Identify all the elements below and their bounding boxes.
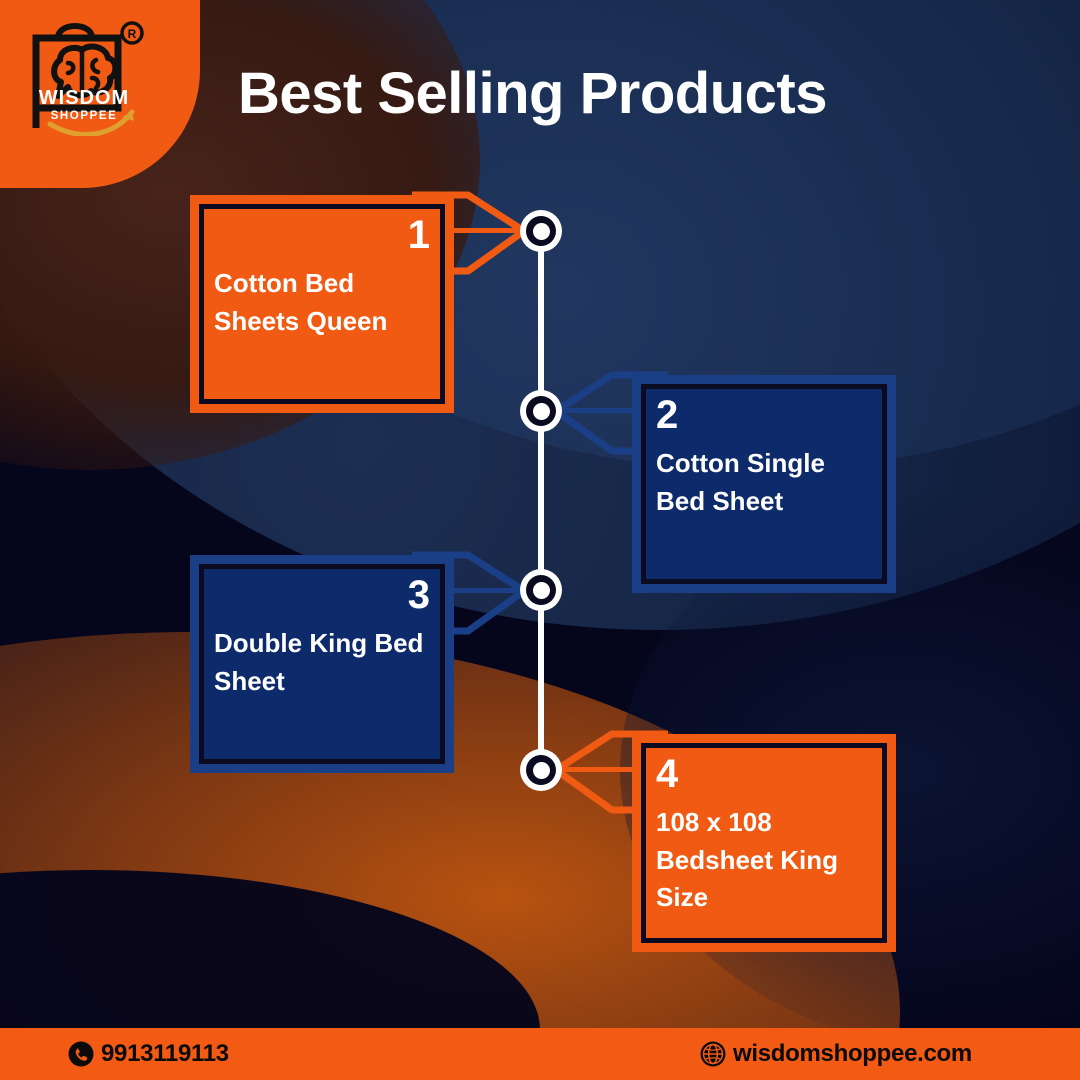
dot-core [533,582,550,599]
dot-ring [526,396,556,426]
card-number: 3 [214,575,430,615]
card-number: 4 [656,754,872,794]
dot-core [533,762,550,779]
timeline-dot-2[interactable] [520,390,562,432]
phone-icon [68,1041,94,1067]
product-card-4[interactable]: 4 108 x 108 Bedsheet King Size [632,734,896,952]
footer-website[interactable]: wisdomshoppee.com [700,1040,972,1068]
card-content: 4 108 x 108 Bedsheet King Size [632,734,896,952]
dot-ring [526,575,556,605]
product-card-1[interactable]: 1 Cotton Bed Sheets Queen [190,195,454,413]
product-card-3[interactable]: 3 Double King Bed Sheet [190,555,454,773]
phone-number: 9913119113 [101,1040,229,1068]
card-label: Cotton Bed Sheets Queen [214,265,430,340]
footer-phone[interactable]: 9913119113 [68,1040,229,1068]
brand-name: WISDOM [22,88,146,108]
website-url: wisdomshoppee.com [733,1040,972,1068]
timeline-dot-3[interactable] [520,569,562,611]
card-label: Cotton Single Bed Sheet [656,445,872,520]
dot-core [533,403,550,420]
poster-canvas: R WISDOM SHOPPEE Best Selling Products [0,0,1080,1080]
card-number: 1 [214,215,430,255]
dot-ring [526,216,556,246]
timeline-dot-4[interactable] [520,749,562,791]
svg-text:R: R [128,27,137,41]
timeline-dot-1[interactable] [520,210,562,252]
card-content: 3 Double King Bed Sheet [190,555,454,773]
dot-core [533,223,550,240]
card-content: 1 Cotton Bed Sheets Queen [190,195,454,413]
card-label: Double King Bed Sheet [214,625,430,700]
product-card-2[interactable]: 2 Cotton Single Bed Sheet [632,375,896,593]
footer-bar: 9913119113 wisdomshoppee.com [0,1028,1080,1080]
dot-ring [526,755,556,785]
card-number: 2 [656,395,872,435]
card-content: 2 Cotton Single Bed Sheet [632,375,896,593]
page-title: Best Selling Products [238,60,827,127]
brand-tagline: SHOPPEE [22,111,146,123]
globe-icon [700,1041,726,1067]
card-label: 108 x 108 Bedsheet King Size [656,804,872,917]
